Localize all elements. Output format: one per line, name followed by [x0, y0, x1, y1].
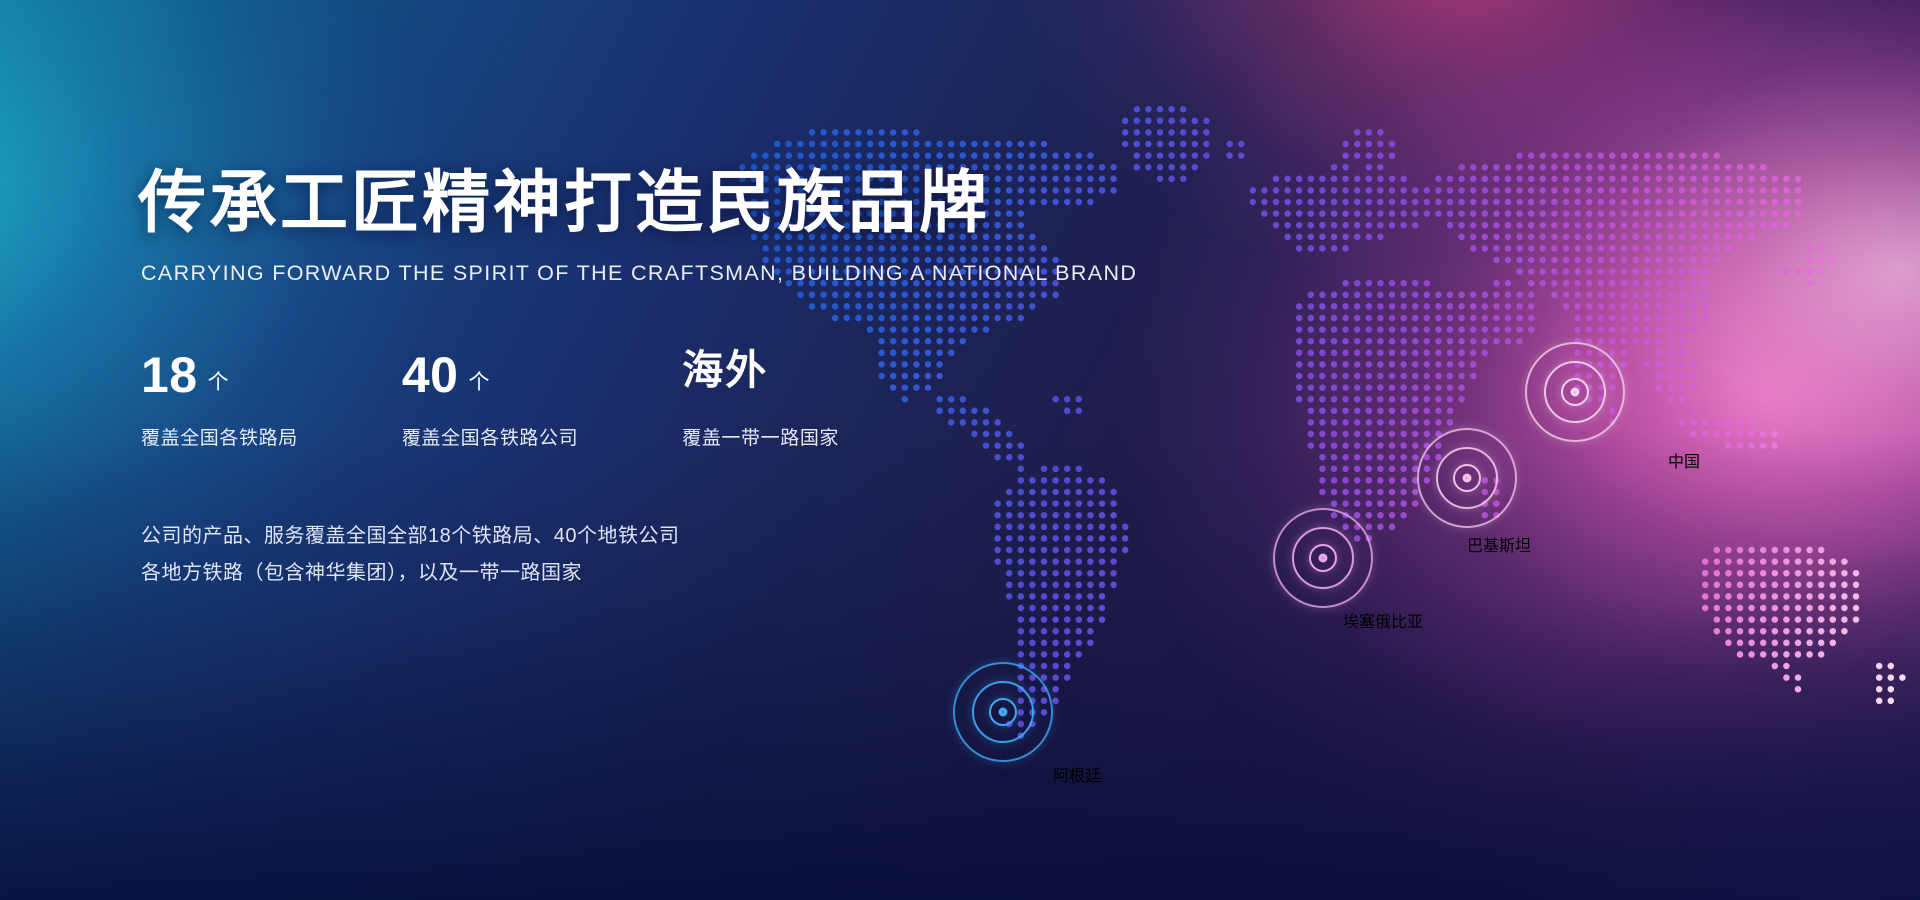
stat-item: 40个覆盖全国各铁路公司	[402, 350, 578, 450]
body-copy-line-1: 公司的产品、服务覆盖全国全部18个铁路局、40个地铁公司	[141, 518, 1018, 555]
marker-center-dot	[1571, 388, 1580, 397]
map-marker-label-china: 中国	[1668, 448, 1700, 472]
hero-banner: 中国巴基斯坦埃塞俄比亚阿根廷 传承工匠精神打造民族品牌 CARRYING FOR…	[0, 0, 1920, 900]
marker-center-dot	[1463, 474, 1472, 483]
page-title: 传承工匠精神打造民族品牌	[138, 168, 1018, 239]
stat-item: 18个覆盖全国各铁路局	[141, 350, 298, 450]
map-marker-label-argentina: 阿根廷	[1053, 762, 1101, 786]
stat-value-row: 海外	[682, 350, 839, 406]
map-marker-label-ethiopia: 埃塞俄比亚	[1343, 608, 1423, 632]
stat-item: 海外覆盖一带一路国家	[682, 350, 839, 450]
stat-unit: 个	[208, 366, 229, 396]
stat-description: 覆盖一带一路国家	[682, 423, 839, 450]
map-marker-label-pakistan: 巴基斯坦	[1467, 532, 1531, 556]
hero-content: 传承工匠精神打造民族品牌 CARRYING FORWARD THE SPIRIT…	[138, 168, 1018, 592]
marker-center-dot	[999, 708, 1008, 717]
stat-value-row: 18个	[141, 350, 298, 406]
body-copy: 公司的产品、服务覆盖全国全部18个铁路局、40个地铁公司 各地方铁路（包含神华集…	[141, 518, 1018, 592]
stat-description: 覆盖全国各铁路局	[141, 423, 298, 450]
stat-description: 覆盖全国各铁路公司	[402, 423, 578, 450]
stat-value-row: 40个	[402, 350, 578, 406]
stat-value: 海外	[682, 350, 768, 391]
page-subtitle: CARRYING FORWARD THE SPIRIT OF THE CRAFT…	[141, 261, 1018, 286]
stat-value: 18	[141, 350, 198, 400]
stat-unit: 个	[468, 366, 489, 396]
stat-value: 40	[402, 350, 459, 400]
stats-row: 18个覆盖全国各铁路局40个覆盖全国各铁路公司海外覆盖一带一路国家	[141, 350, 1018, 450]
marker-center-dot	[1319, 554, 1328, 563]
body-copy-line-2: 各地方铁路（包含神华集团），以及一带一路国家	[141, 555, 1018, 592]
